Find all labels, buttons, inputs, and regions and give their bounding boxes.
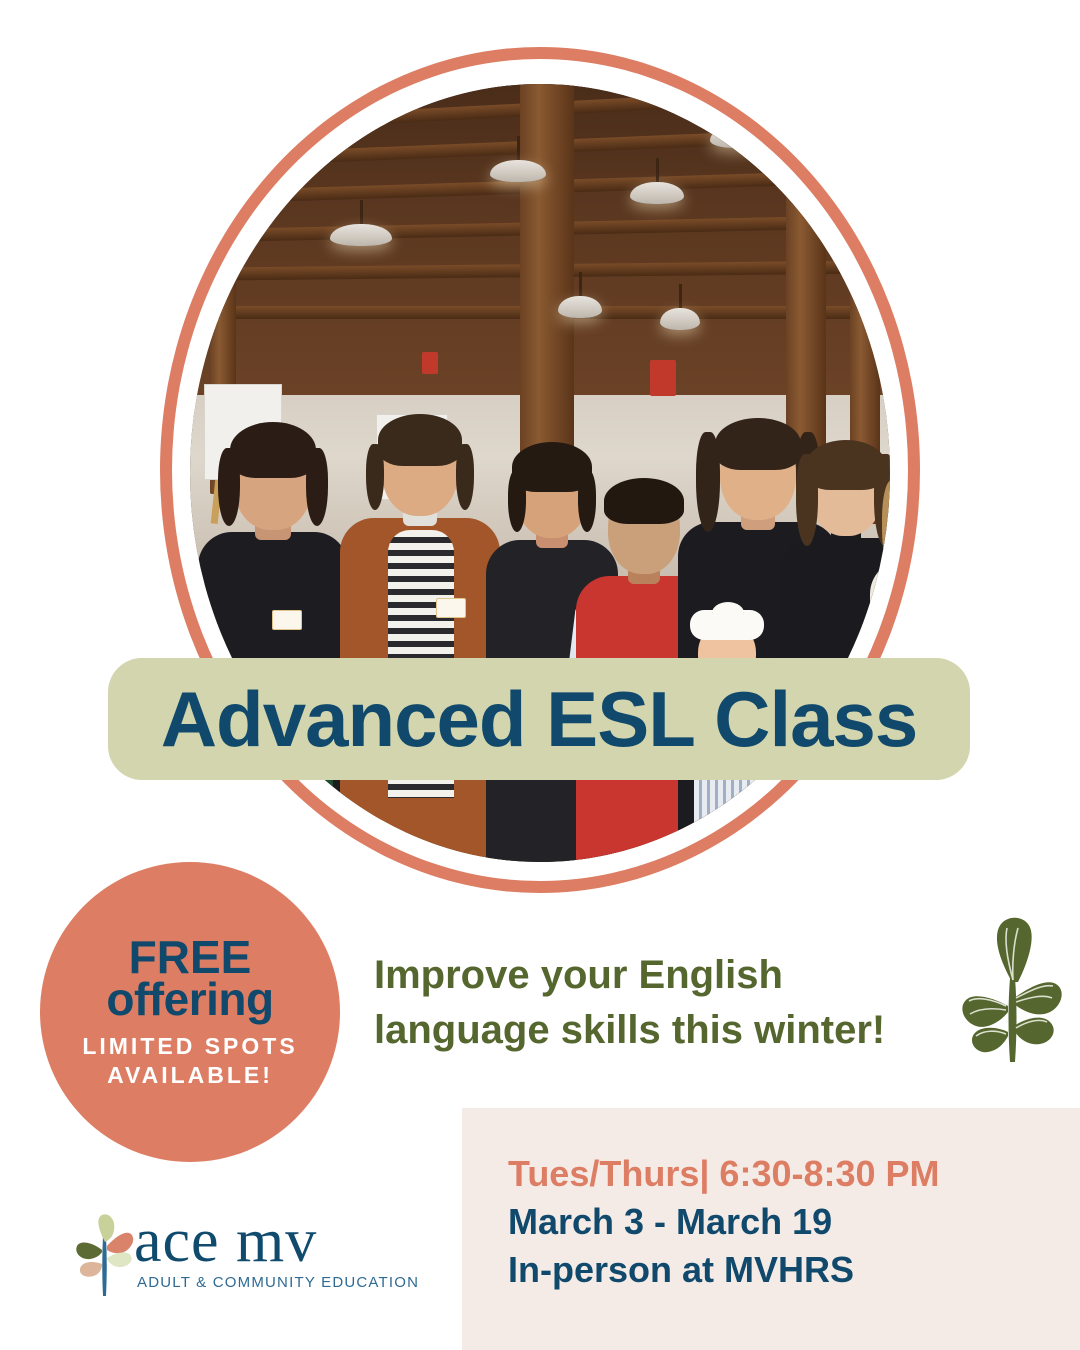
offering-label: offering xyxy=(106,976,273,1023)
limited-spots-line2: AVAILABLE! xyxy=(107,1061,273,1089)
person-hair-side xyxy=(696,432,720,532)
exit-sign xyxy=(422,352,438,374)
schedule-text: Tues/Thurs| 6:30-8:30 PM xyxy=(508,1150,1080,1198)
person-hair-side xyxy=(508,470,526,532)
logo-mark xyxy=(72,1214,138,1296)
baby-sock xyxy=(696,828,722,850)
baby-sock xyxy=(730,828,756,850)
person-hair-side xyxy=(306,448,328,526)
dates-text: March 3 - March 19 xyxy=(508,1198,1080,1246)
leaf-decoration xyxy=(958,912,1062,1062)
page-title: Advanced ESL Class xyxy=(161,680,918,758)
person-hair xyxy=(604,478,684,524)
title-banner: Advanced ESL Class xyxy=(108,658,970,780)
logo-name: ace mv xyxy=(134,1212,419,1272)
class-details-panel: Tues/Thurs| 6:30-8:30 PM March 3 - March… xyxy=(462,1108,1080,1350)
person-hair-side xyxy=(218,448,240,526)
acemv-logo: ace mv ADULT & COMMUNITY EDUCATION xyxy=(72,1212,392,1302)
leaf-icon xyxy=(958,912,1062,1062)
tagline-line-2: language skills this winter! xyxy=(374,1003,954,1058)
tagline-line-1: Improve your English xyxy=(374,948,954,1003)
limited-spots-line1: LIMITED SPOTS xyxy=(82,1032,297,1060)
free-offering-badge: FREE offering LIMITED SPOTS AVAILABLE! xyxy=(40,862,340,1162)
name-badge xyxy=(436,598,466,618)
person-photo xyxy=(198,432,348,862)
logo-wordmark: ace mv ADULT & COMMUNITY EDUCATION xyxy=(134,1212,419,1291)
name-badge xyxy=(272,610,302,630)
person-hair xyxy=(230,422,316,478)
person-hair-side xyxy=(882,480,890,576)
plant-logo-icon xyxy=(72,1214,138,1296)
person-photo xyxy=(340,422,500,862)
person-hair-side xyxy=(366,444,384,510)
exit-sign xyxy=(650,360,676,396)
person-hair-side xyxy=(796,454,818,546)
logo-subtitle: ADULT & COMMUNITY EDUCATION xyxy=(137,1274,419,1291)
flyer-canvas: Advanced ESL Class FREE offering LIMITED… xyxy=(0,0,1080,1350)
person-hair xyxy=(378,414,462,466)
baby-bow xyxy=(712,602,744,624)
tagline: Improve your English language skills thi… xyxy=(374,948,954,1058)
location-text: In-person at MVHRS xyxy=(508,1246,1080,1294)
person-hair-side xyxy=(456,444,474,510)
